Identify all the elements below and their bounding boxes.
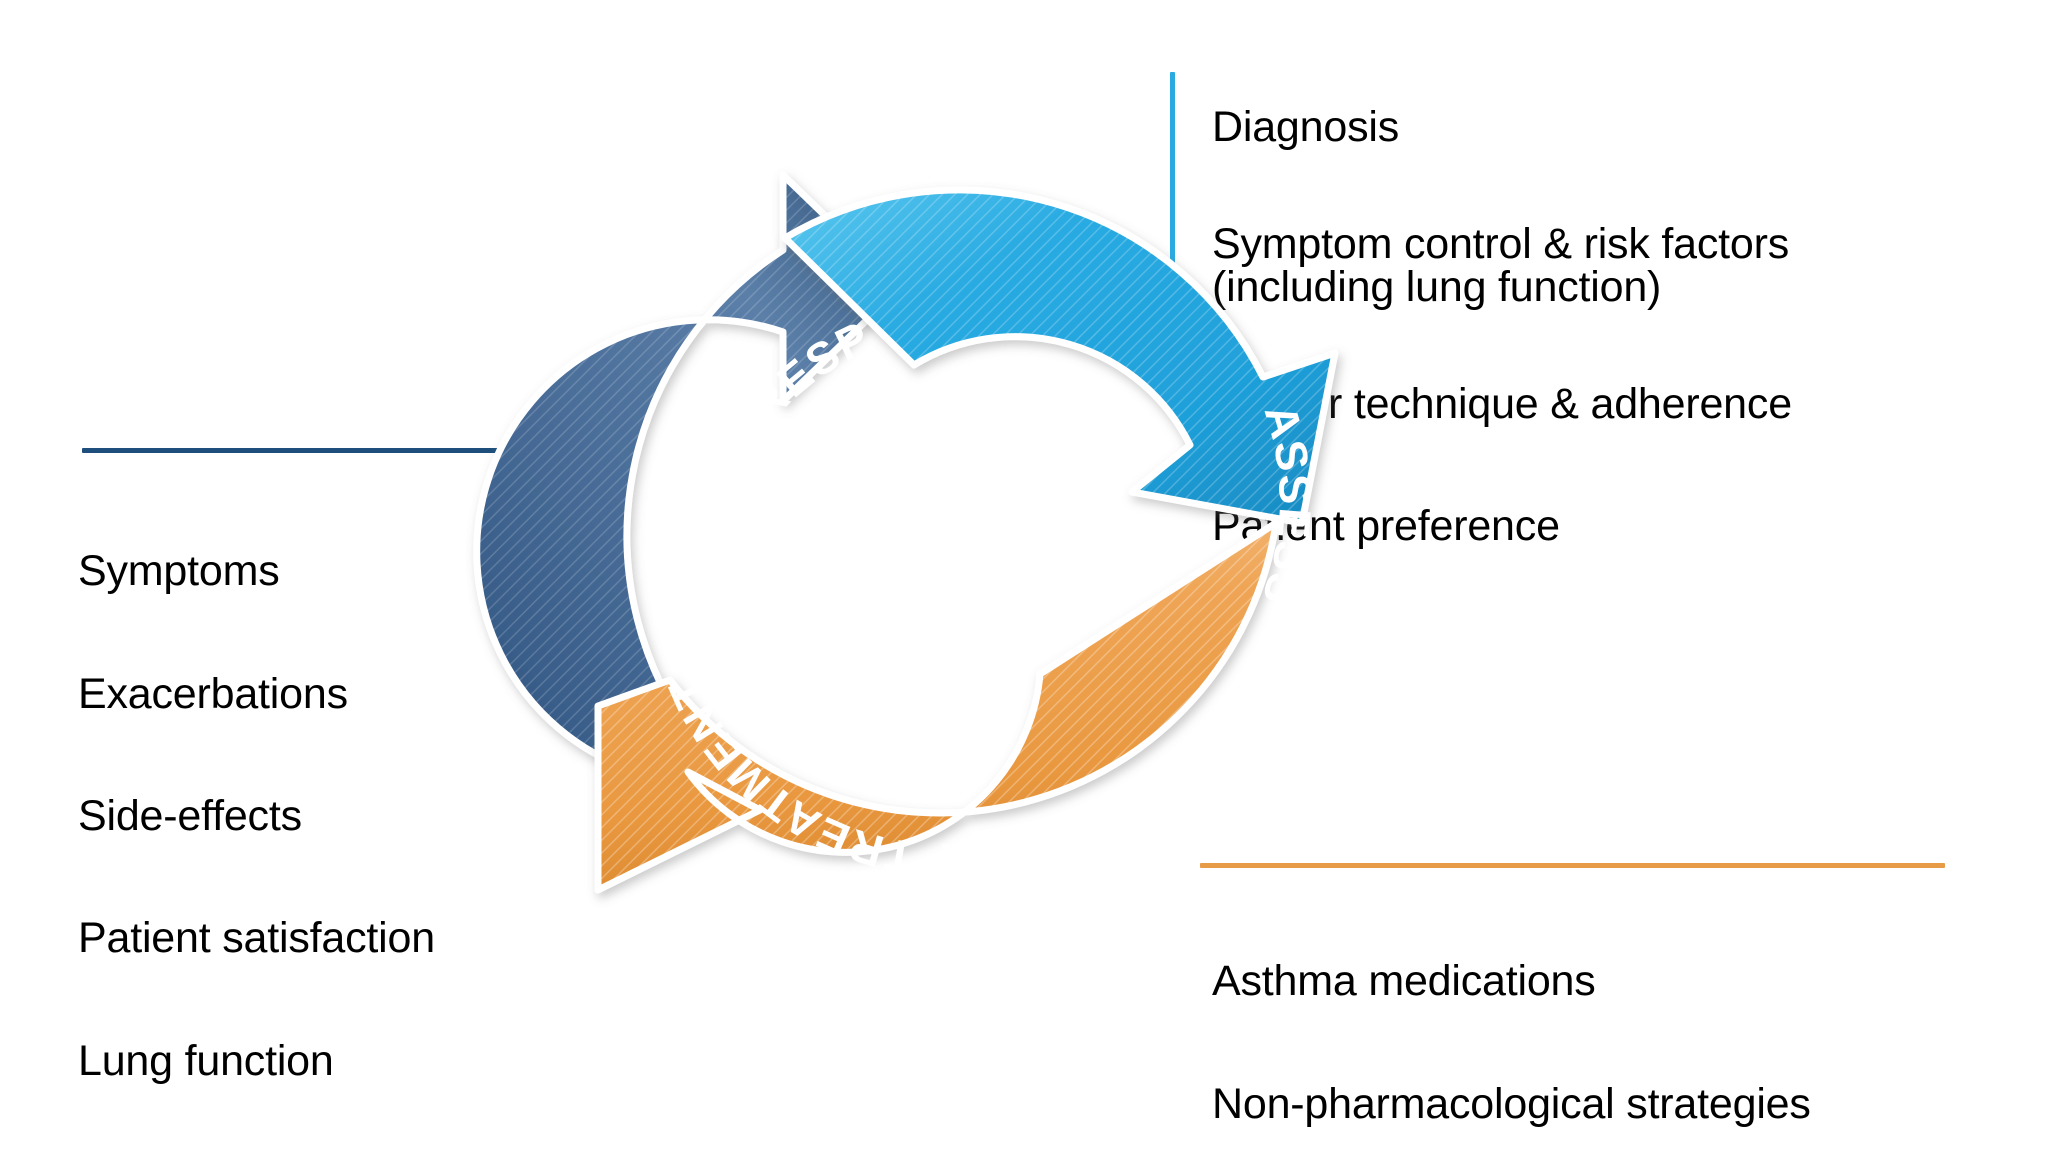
review-detail-item: Lung function — [78, 1034, 598, 1088]
adjust-detail-item: Asthma medications — [1212, 954, 2012, 1008]
adjust-detail-list: Asthma medications Non-pharmacological s… — [1212, 900, 2012, 1165]
adjust-detail-item: Non-pharmacological strategies — [1212, 1077, 2012, 1131]
cycle-arrows: ASSESS ADJUST TREATMENT REVIEW RESPONSE — [430, 120, 1490, 920]
diagram-canvas: Diagnosis Symptom control & risk factors… — [0, 0, 2056, 1165]
